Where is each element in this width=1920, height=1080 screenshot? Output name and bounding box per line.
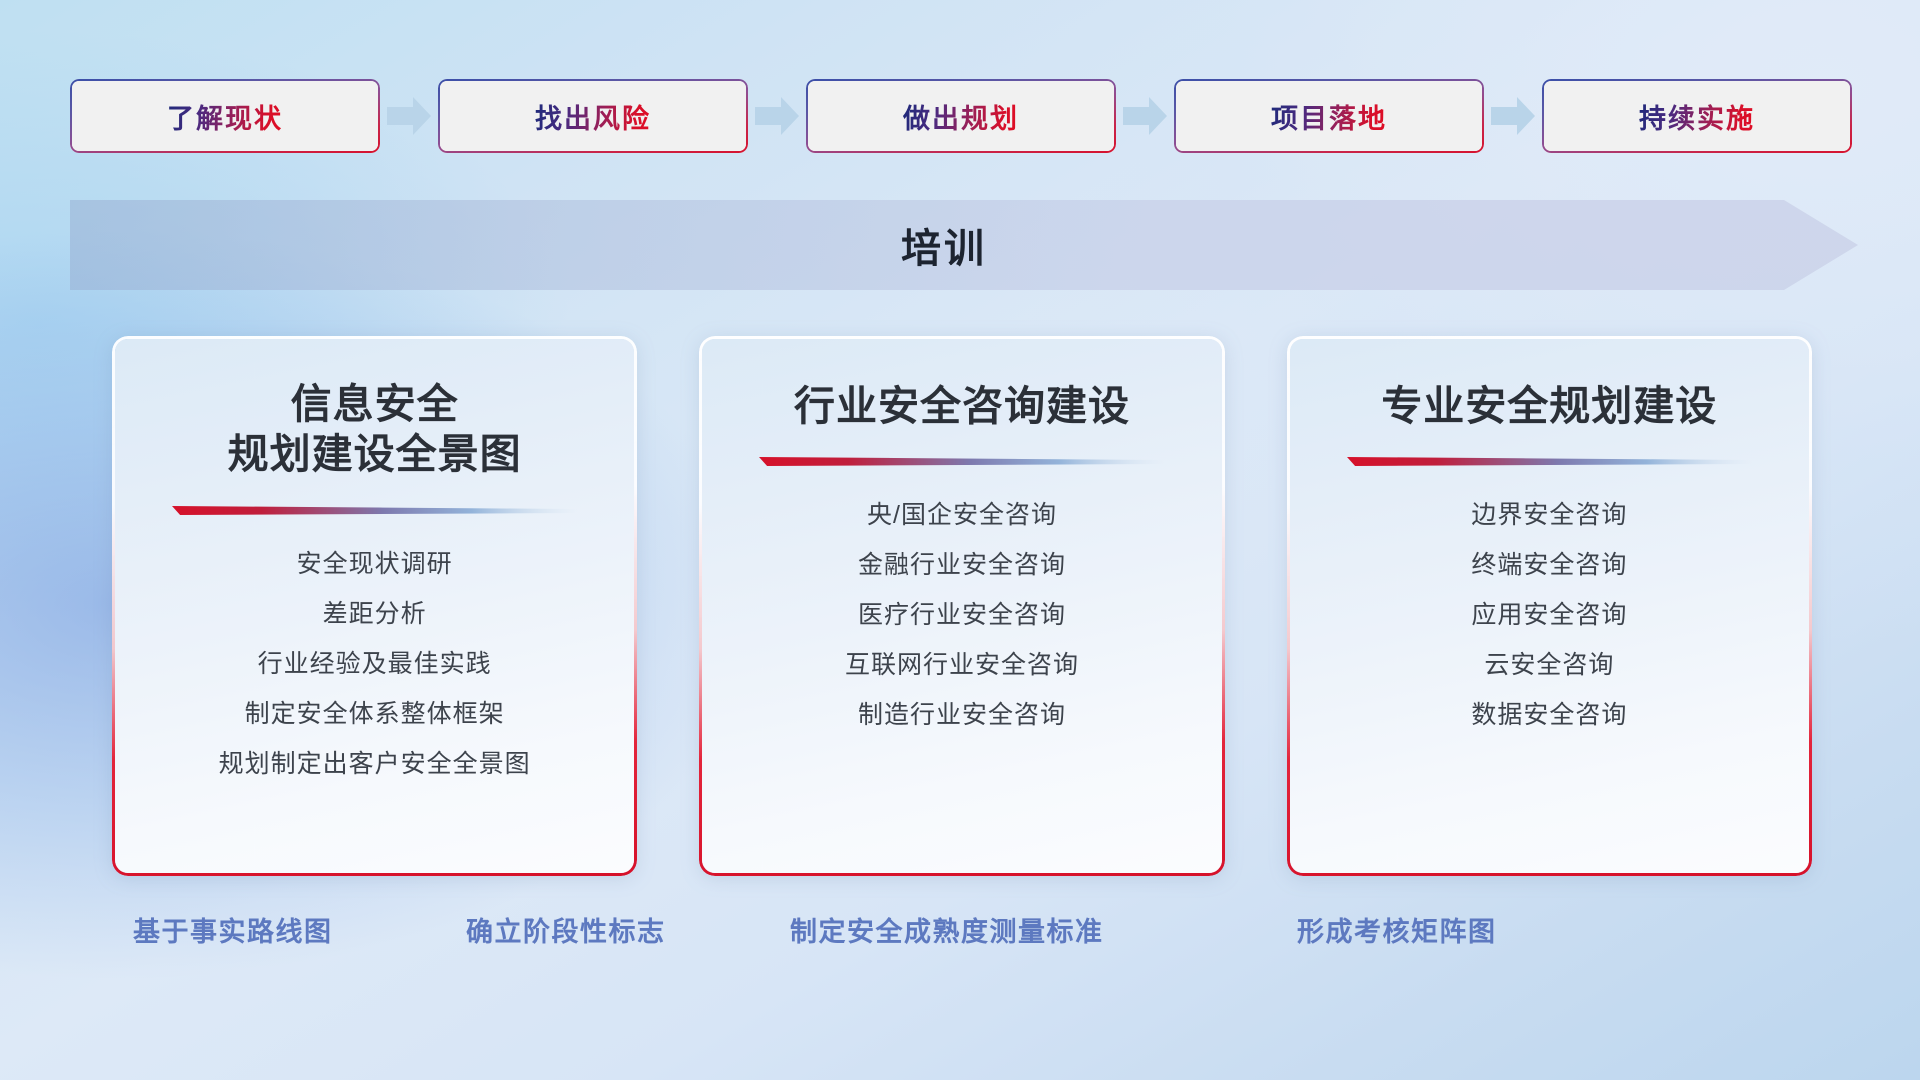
list-item: 应用安全咨询 [1471,590,1627,640]
process-step-inner: 持续实施 [1544,81,1850,151]
service-card-list: 安全现状调研差距分析行业经验及最佳实践制定安全体系整体框架规划制定出客户安全全景… [115,539,634,789]
gradient-divider-icon [759,455,1164,468]
card-row: 信息安全 规划建设全景图安全现状调研差距分析行业经验及最佳实践制定安全体系整体框… [112,336,1812,876]
slide-canvas: 了解现状找出风险做出规划项目落地持续实施 培训 信息安全 规划建设全景图安全现状… [0,0,1920,1080]
arrow-right-icon [380,93,438,139]
process-step-inner: 项目落地 [1176,81,1482,151]
arrow-right-icon [748,93,806,139]
list-item: 央/国企安全咨询 [867,490,1057,540]
service-card-2[interactable]: 行业安全咨询建设央/国企安全咨询金融行业安全咨询医疗行业安全咨询互联网行业安全咨… [699,336,1224,876]
banner-title: 培训 [70,200,1858,290]
caption-3: 制定安全成熟度测量标准 [790,910,1104,949]
service-card-list: 边界安全咨询终端安全咨询应用安全咨询云安全咨询数据安全咨询 [1290,490,1809,740]
service-card-1[interactable]: 信息安全 规划建设全景图安全现状调研差距分析行业经验及最佳实践制定安全体系整体框… [112,336,637,876]
list-item: 行业经验及最佳实践 [258,639,492,689]
list-item: 差距分析 [323,589,427,639]
service-card-title: 行业安全咨询建设 [794,381,1130,431]
arrow-right-icon [1116,93,1174,139]
service-card-3[interactable]: 专业安全规划建设边界安全咨询终端安全咨询应用安全咨询云安全咨询数据安全咨询 [1287,336,1812,876]
service-card-title: 信息安全 规划建设全景图 [228,379,522,480]
list-item: 安全现状调研 [297,539,453,589]
list-item: 边界安全咨询 [1471,490,1627,540]
process-step-4[interactable]: 项目落地 [1174,79,1484,153]
service-card-body: 行业安全咨询建设央/国企安全咨询金融行业安全咨询医疗行业安全咨询互联网行业安全咨… [702,339,1221,873]
training-banner: 培训 [70,200,1858,290]
list-item: 制造行业安全咨询 [858,690,1066,740]
list-item: 互联网行业安全咨询 [845,640,1079,690]
service-card-title: 专业安全规划建设 [1381,381,1717,431]
caption-1: 基于事实路线图 [133,910,333,949]
process-step-5[interactable]: 持续实施 [1542,79,1852,153]
list-item: 医疗行业安全咨询 [858,590,1066,640]
process-step-1[interactable]: 了解现状 [70,79,380,153]
list-item: 云安全咨询 [1484,640,1614,690]
arrow-right-icon [1484,93,1542,139]
list-item: 规划制定出客户安全全景图 [219,739,531,789]
service-card-list: 央/国企安全咨询金融行业安全咨询医疗行业安全咨询互联网行业安全咨询制造行业安全咨… [702,490,1221,740]
gradient-divider-icon [1347,455,1752,468]
process-step-3[interactable]: 做出规划 [806,79,1116,153]
list-item: 制定安全体系整体框架 [245,689,505,739]
process-step-label: 做出规划 [903,97,1019,136]
list-item: 金融行业安全咨询 [858,540,1066,590]
process-step-label: 找出风险 [535,97,651,136]
caption-row: 基于事实路线图确立阶段性标志制定安全成熟度测量标准形成考核矩阵图 [0,910,1920,958]
process-step-label: 了解现状 [167,97,283,136]
process-step-row: 了解现状找出风险做出规划项目落地持续实施 [70,79,1858,153]
process-step-2[interactable]: 找出风险 [438,79,748,153]
process-step-inner: 做出规划 [808,81,1114,151]
process-step-label: 项目落地 [1271,97,1387,136]
caption-2: 确立阶段性标志 [466,910,666,949]
list-item: 终端安全咨询 [1471,540,1627,590]
caption-4: 形成考核矩阵图 [1297,910,1497,949]
list-item: 数据安全咨询 [1471,690,1627,740]
process-step-label: 持续实施 [1639,97,1755,136]
process-step-inner: 了解现状 [72,81,378,151]
service-card-body: 专业安全规划建设边界安全咨询终端安全咨询应用安全咨询云安全咨询数据安全咨询 [1290,339,1809,873]
service-card-body: 信息安全 规划建设全景图安全现状调研差距分析行业经验及最佳实践制定安全体系整体框… [115,339,634,873]
process-step-inner: 找出风险 [440,81,746,151]
gradient-divider-icon [172,504,577,517]
